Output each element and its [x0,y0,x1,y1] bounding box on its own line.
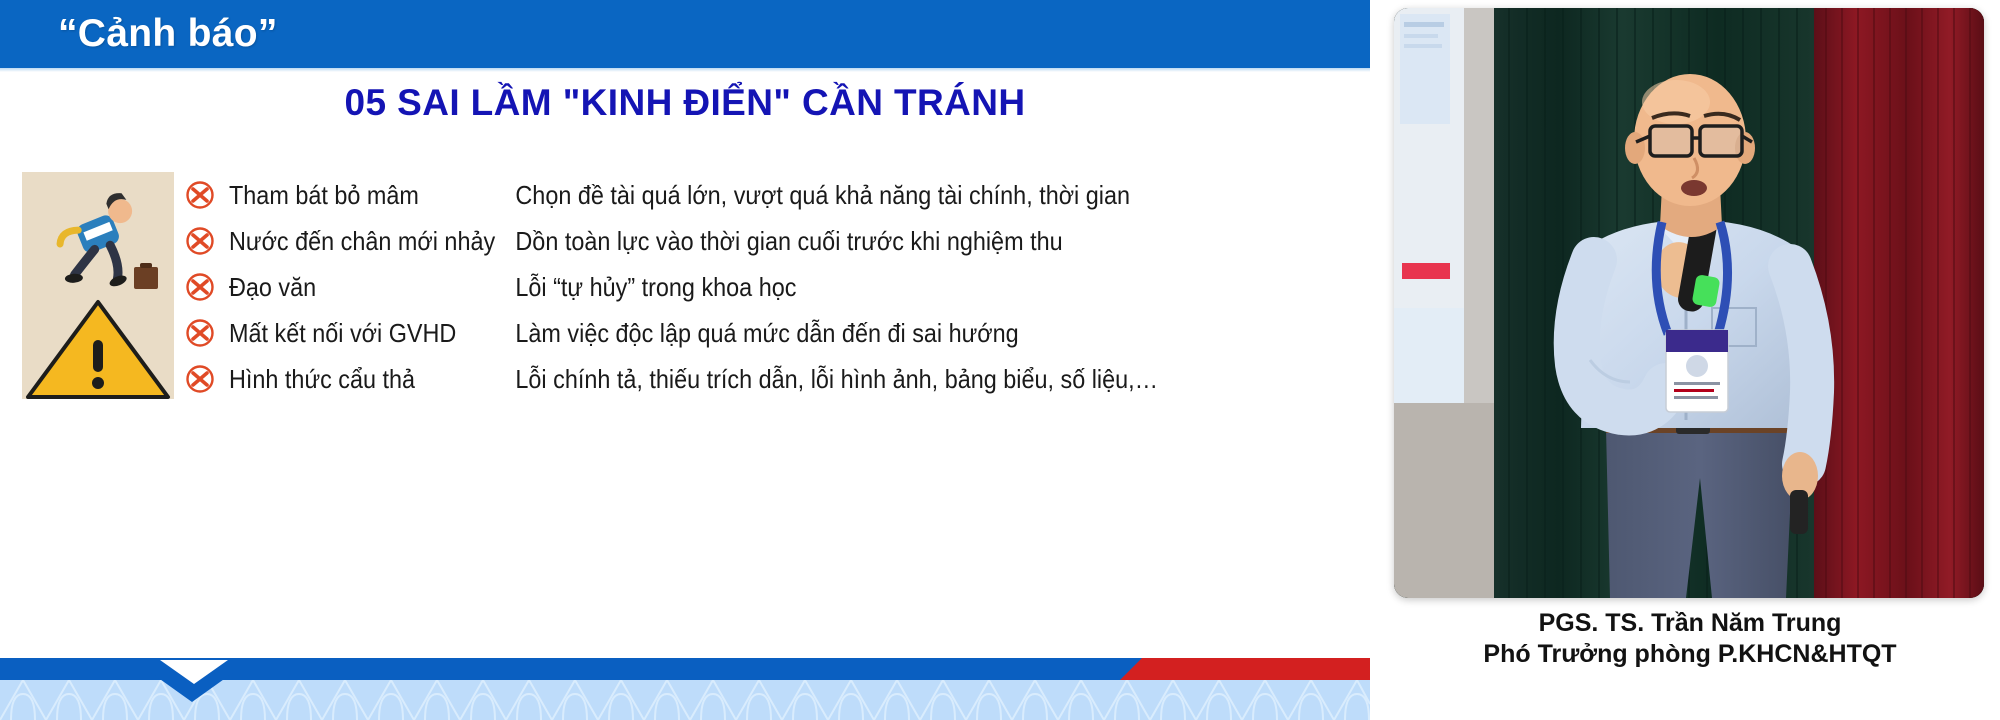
page-title: 05 SAI LẦM "KINH ĐIỂN" CẦN TRÁNH [0,82,1370,124]
speaker-caption: PGS. TS. Trần Năm Trung Phó Trưởng phòng… [1380,608,2000,669]
mistakes-list: Tham bát bỏ mâm Chọn đề tài quá lớn, vượ… [185,172,1335,402]
mistake-name: Tham bát bỏ mâm [229,180,450,211]
speaker-role: Phó Trưởng phòng P.KHCN&HTQT [1380,639,2000,670]
circled-x-icon [185,364,229,394]
circled-x-icon [185,318,229,348]
circled-x-icon [185,180,229,210]
mistake-name: Đạo văn [229,272,450,303]
mistake-description: Dồn toàn lực vào thời gian cuối trước kh… [474,226,1249,257]
footer-notch-inner [160,660,228,684]
speaker-video-photo[interactable] [1394,8,1984,598]
mistake-name: Nước đến chân mới nhảy [229,226,450,257]
mistake-description: Làm việc độc lập quá mức dẫn đến đi sai … [474,318,1249,349]
speaker-panel: PGS. TS. Trần Năm Trung Phó Trưởng phòng… [1380,0,2000,720]
illustration-svg [22,172,174,399]
list-item: Đạo văn Lỗi “tự hủy” trong khoa học [185,264,1335,310]
slide-header-banner: “Cảnh báo” [0,0,1370,68]
header-title: “Cảnh báo” [58,12,278,56]
mistake-name: Mất kết nối với GVHD [229,318,450,349]
mistake-name: Hình thức cẩu thả [229,364,450,395]
slide-footer [0,640,1370,720]
list-item: Nước đến chân mới nhảy Dồn toàn lực vào … [185,218,1335,264]
list-item: Hình thức cẩu thả Lỗi chính tả, thiếu tr… [185,356,1335,402]
falling-businessman-warning-illustration [22,172,174,399]
mistake-description: Lỗi “tự hủy” trong khoa học [474,272,1249,303]
speaker-name: PGS. TS. Trần Năm Trung [1380,608,2000,639]
speaker-photo-svg [1394,8,1984,598]
circled-x-icon [185,272,229,302]
list-item: Tham bát bỏ mâm Chọn đề tài quá lớn, vượ… [185,172,1335,218]
mistake-description: Lỗi chính tả, thiếu trích dẫn, lỗi hình … [474,364,1249,395]
screenshot-root: “Cảnh báo” 05 SAI LẦM "KINH ĐIỂN" CẦN TR… [0,0,2000,720]
presentation-slide: “Cảnh báo” 05 SAI LẦM "KINH ĐIỂN" CẦN TR… [0,0,1370,720]
footer-red-accent [1120,658,1370,680]
list-item: Mất kết nối với GVHD Làm việc độc lập qu… [185,310,1335,356]
circled-x-icon [185,226,229,256]
mistake-description: Chọn đề tài quá lớn, vượt quá khả năng t… [474,180,1249,211]
